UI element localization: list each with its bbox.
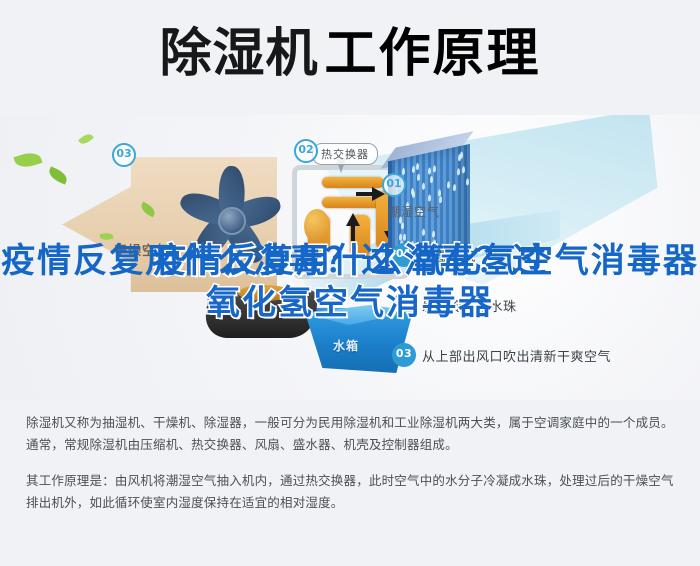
condensation-droplet: [422, 228, 425, 236]
condensation-droplet: [428, 167, 431, 175]
page-root: 除湿机工作原理 干燥空气: [0, 0, 700, 566]
condensation-droplet: [412, 190, 415, 198]
step-line-01: 01 潮湿空气: [392, 243, 476, 267]
condensation-droplet: [428, 194, 431, 202]
condensation-droplet: [438, 189, 441, 197]
flow-arrow-right-tail: [356, 192, 373, 196]
condensation-droplet: [416, 163, 419, 171]
fan-hub: [218, 207, 246, 235]
marker-03: 03: [112, 143, 136, 167]
compressor-body: [304, 209, 330, 243]
step-num-03: 03: [392, 343, 416, 367]
fan-illustration: [180, 163, 290, 271]
step-num-02: 02: [392, 293, 416, 317]
condensation-droplet: [401, 222, 404, 230]
article-body: 除湿机又称为抽湿机、干燥机、除湿器，一般可分为民用除湿机和工业除湿机两大类，属于…: [26, 412, 678, 514]
condensation-droplet: [432, 230, 435, 238]
condensation-droplet: [412, 165, 415, 173]
condensation-droplet: [462, 166, 465, 174]
step-line-03: 03 从上部出风口吹出清新干爽空气: [392, 343, 611, 367]
condensation-droplet: [422, 183, 425, 191]
machine-base-ring: [238, 285, 292, 301]
step-num-01: 01: [392, 243, 416, 267]
condensation-droplet: [417, 173, 420, 181]
heat-exchanger-callout: 热交换器: [312, 143, 378, 165]
condensation-droplet: [457, 168, 460, 176]
title-main-text: 除湿机: [159, 24, 318, 84]
step-text-01: 潮湿空气: [422, 246, 476, 265]
flow-arrow-up-tail: [351, 225, 355, 241]
condensation-droplet: [433, 166, 436, 174]
condensation-droplet: [447, 181, 450, 189]
condensation-droplet: [402, 167, 405, 175]
dry-air-label: 干燥空气: [114, 240, 170, 259]
dehumidifier-diagram: 干燥空气: [0, 115, 700, 400]
marker-01: 01: [382, 173, 406, 197]
title-sub-text: 工作原理: [325, 24, 541, 84]
condensation-droplet: [430, 176, 433, 184]
condensation-droplet: [466, 178, 469, 186]
condensation-droplet: [453, 184, 456, 192]
moist-air-label: 潮湿空气: [388, 203, 440, 220]
body-paragraph-2: 其工作原理是：由风机将潮湿空气抽入机内，通过热交换器，此时空气中的水分子冷凝成水…: [26, 470, 678, 514]
step-text-03: 从上部出风口吹出清新干爽空气: [422, 346, 611, 365]
step-text-02: 发器冷凝成水珠: [422, 296, 517, 315]
marker-02: 02: [294, 139, 318, 163]
step-line-02: 02 发器冷凝成水珠: [392, 293, 517, 317]
body-paragraph-1: 除湿机又称为抽湿机、干燥机、除湿器，一般可分为民用除湿机和工业除湿机两大类，属于…: [26, 412, 678, 456]
page-title: 除湿机工作原理: [0, 24, 700, 84]
condensation-droplet: [439, 195, 442, 203]
condensation-droplet: [460, 151, 463, 159]
water-tank-label: 水箱: [333, 337, 359, 354]
condensation-droplet: [403, 233, 406, 241]
flow-arrow-up-icon: [346, 213, 360, 226]
